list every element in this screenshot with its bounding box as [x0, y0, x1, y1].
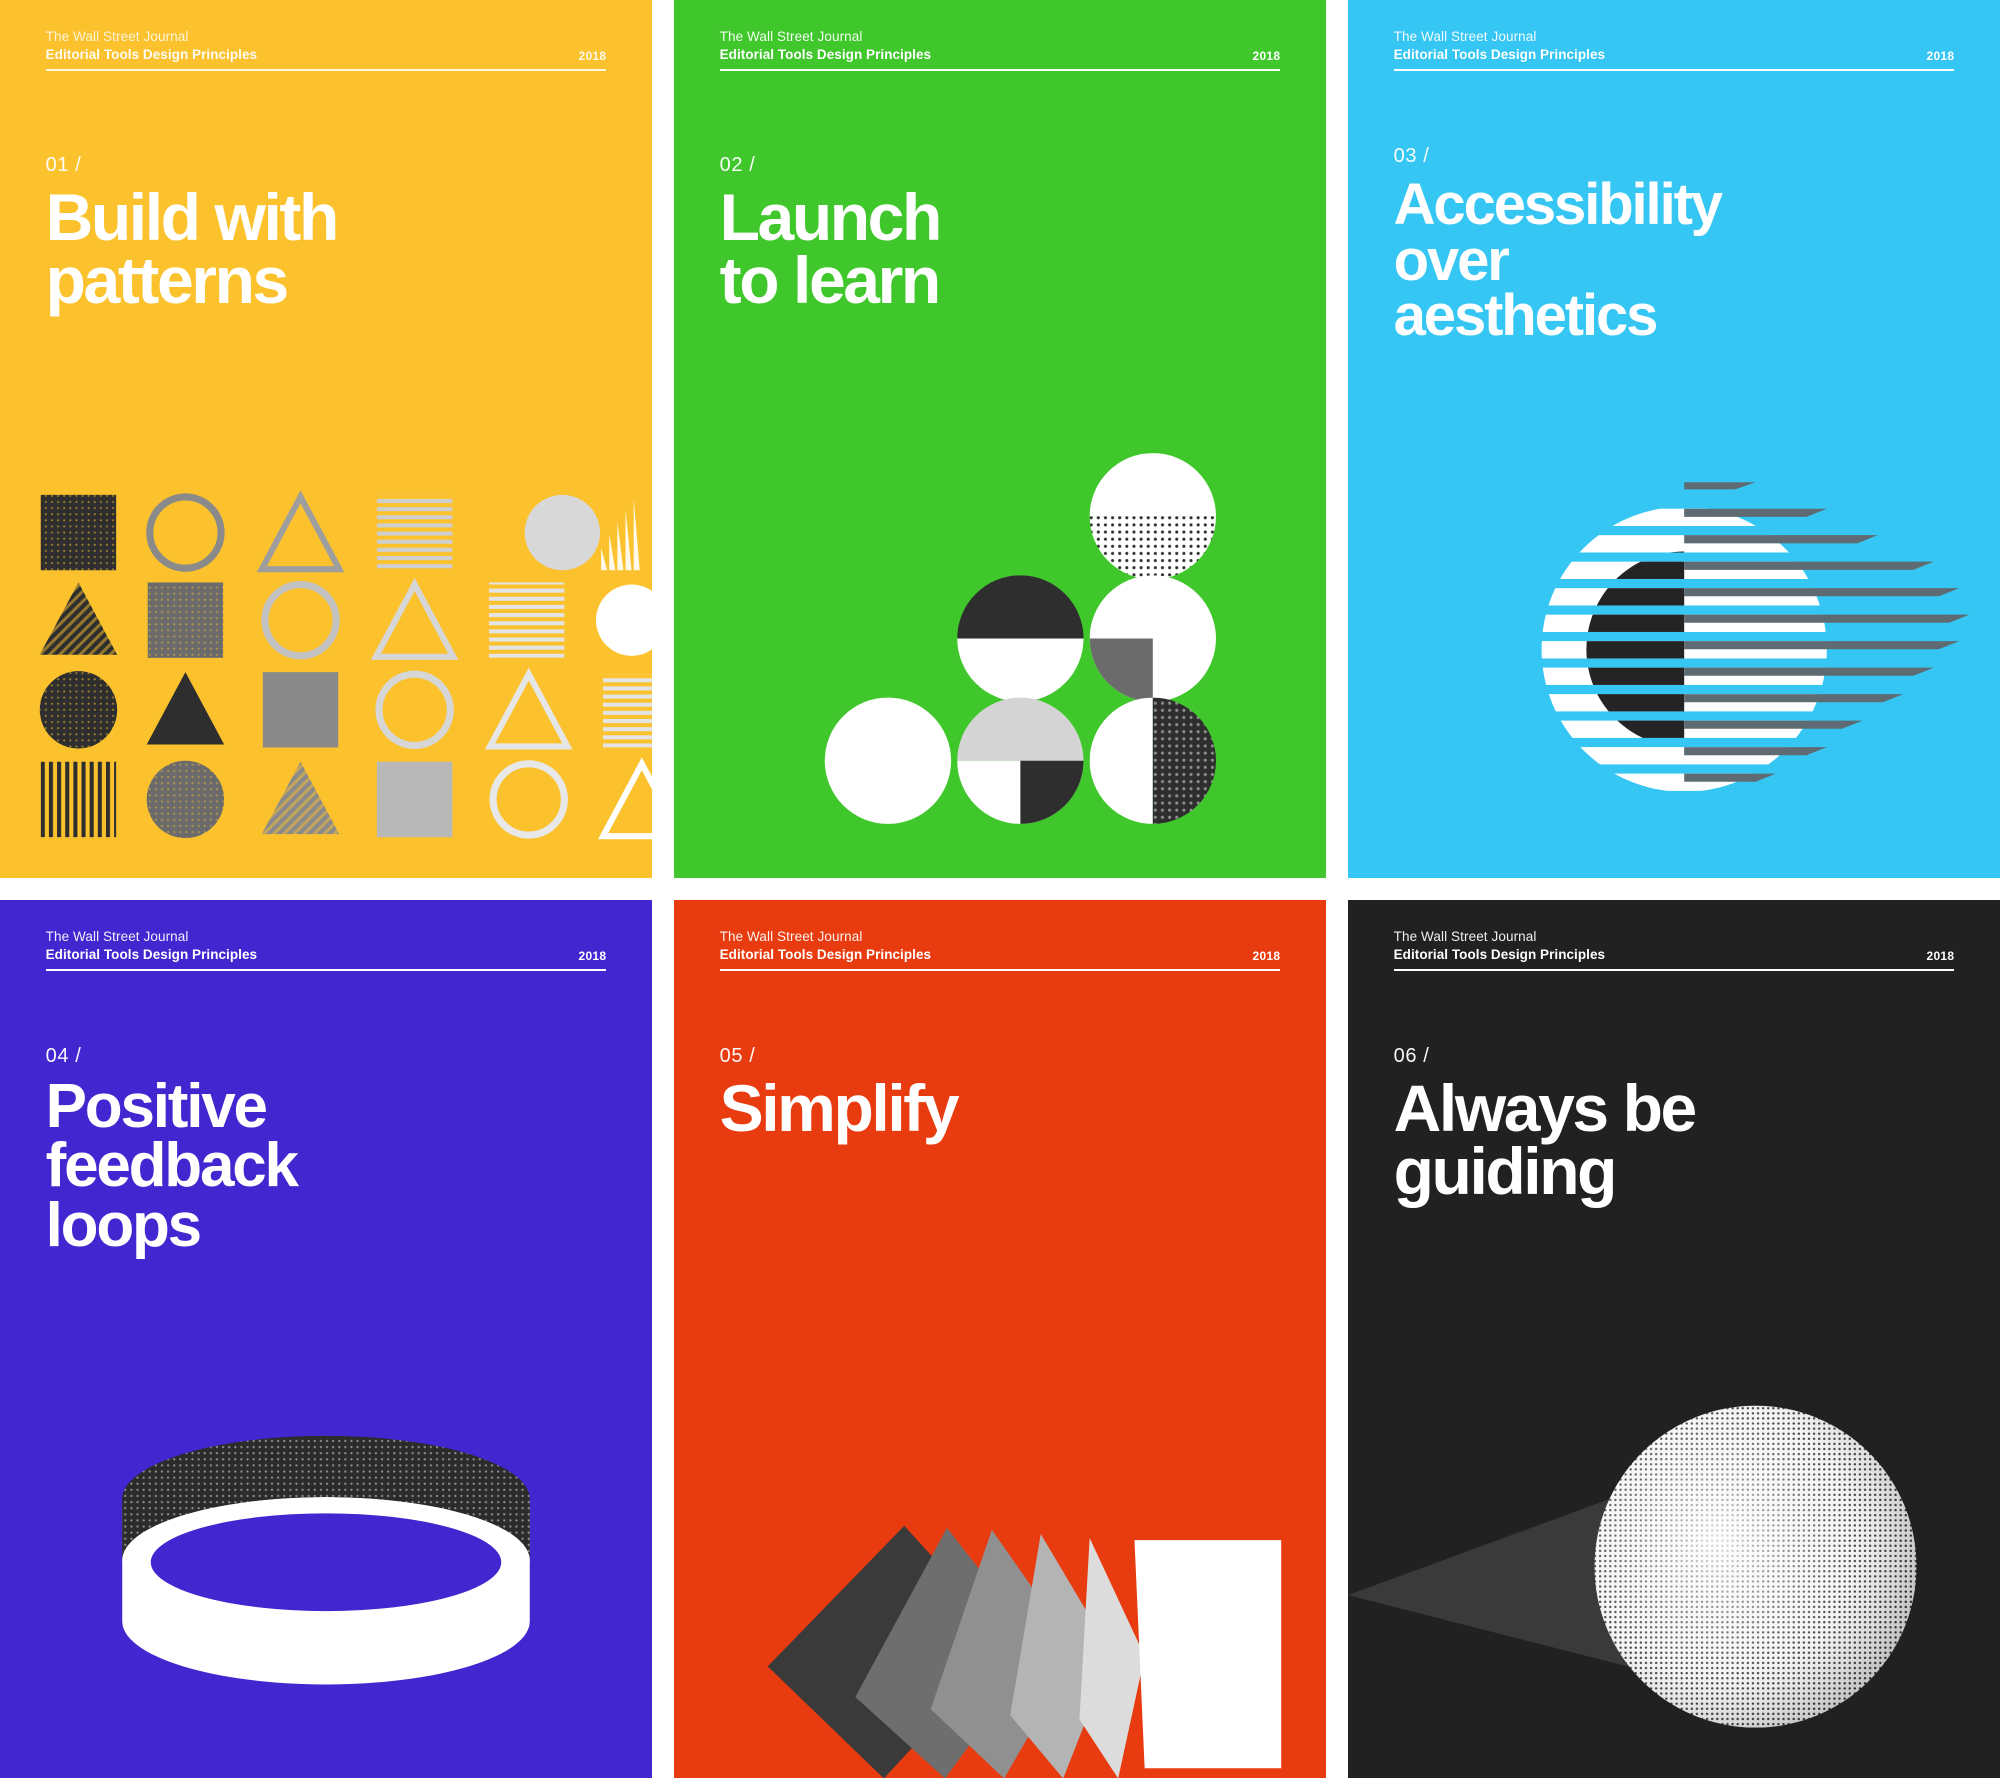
page-title: Simplify [720, 1077, 1287, 1140]
title-line: loops [46, 1196, 613, 1256]
series-name: Editorial Tools Design Principles [1394, 946, 1605, 964]
title-line: guiding [1394, 1140, 1961, 1203]
header-rule [1394, 969, 1955, 971]
title-line: over [1394, 233, 1961, 289]
title-block: 01 / Build with patterns [46, 154, 613, 313]
poster-header: The Wall Street Journal Editorial Tools … [46, 928, 607, 971]
page-title: Launch to learn [720, 186, 1287, 313]
page-title: Always be guiding [1394, 1077, 1961, 1204]
header-rule [1394, 69, 1955, 71]
series-name: Editorial Tools Design Principles [1394, 46, 1605, 64]
publication-name: The Wall Street Journal [720, 28, 931, 46]
header-rule [46, 969, 607, 971]
artwork-mobius-band [0, 1383, 652, 1778]
poster-header: The Wall Street Journal Editorial Tools … [46, 28, 607, 71]
title-line: feedback [46, 1136, 613, 1196]
publication-name: The Wall Street Journal [1394, 928, 1605, 946]
series-name: Editorial Tools Design Principles [46, 946, 257, 964]
year-label: 2018 [1252, 949, 1280, 964]
series-name: Editorial Tools Design Principles [720, 46, 931, 64]
artwork-fanned-cards [674, 1357, 1326, 1778]
title-line: Build with [46, 186, 613, 249]
publication-block: The Wall Street Journal Editorial Tools … [720, 28, 931, 64]
poster-grid: The Wall Street Journal Editorial Tools … [0, 0, 2000, 1778]
year-label: 2018 [1252, 49, 1280, 64]
title-line: Simplify [720, 1077, 1287, 1140]
poster-number: 04 / [46, 1045, 613, 1068]
poster-header: The Wall Street Journal Editorial Tools … [720, 928, 1281, 971]
poster-04-positive-feedback-loops[interactable]: The Wall Street Journal Editorial Tools … [0, 900, 652, 1778]
artwork-striped-globe [1348, 421, 2000, 878]
poster-header: The Wall Street Journal Editorial Tools … [1394, 28, 1955, 71]
title-line: Launch [720, 186, 1287, 249]
header-rule [46, 69, 607, 71]
title-block: 02 / Launch to learn [720, 154, 1287, 313]
title-block: 06 / Always be guiding [1394, 1045, 1961, 1204]
page-title: Accessibility over aesthetics [1394, 177, 1961, 344]
publication-block: The Wall Street Journal Editorial Tools … [1394, 28, 1605, 64]
year-label: 2018 [1926, 49, 1954, 64]
publication-name: The Wall Street Journal [46, 28, 257, 46]
artwork-halftone-sphere-beam [1348, 1339, 2000, 1778]
poster-02-launch-to-learn[interactable]: The Wall Street Journal Editorial Tools … [674, 0, 1326, 878]
publication-block: The Wall Street Journal Editorial Tools … [46, 28, 257, 64]
publication-block: The Wall Street Journal Editorial Tools … [1394, 928, 1605, 964]
series-name: Editorial Tools Design Principles [46, 46, 257, 64]
title-line: aesthetics [1394, 288, 1961, 344]
publication-block: The Wall Street Journal Editorial Tools … [720, 928, 931, 964]
title-block: 04 / Positive feedback loops [46, 1045, 613, 1256]
poster-number: 01 / [46, 154, 613, 177]
year-label: 2018 [578, 49, 606, 64]
series-name: Editorial Tools Design Principles [720, 946, 931, 964]
poster-number: 05 / [720, 1045, 1287, 1068]
poster-03-accessibility-over-aesthetics[interactable]: The Wall Street Journal Editorial Tools … [1348, 0, 2000, 878]
title-line: Accessibility [1394, 177, 1961, 233]
title-block: 03 / Accessibility over aesthetics [1394, 145, 1961, 344]
publication-block: The Wall Street Journal Editorial Tools … [46, 928, 257, 964]
poster-01-build-with-patterns[interactable]: The Wall Street Journal Editorial Tools … [0, 0, 652, 878]
title-line: patterns [46, 249, 613, 312]
poster-number: 06 / [1394, 1045, 1961, 1068]
page-title: Positive feedback loops [46, 1077, 613, 1256]
poster-header: The Wall Street Journal Editorial Tools … [720, 28, 1281, 71]
poster-06-always-be-guiding[interactable]: The Wall Street Journal Editorial Tools … [1348, 900, 2000, 1778]
year-label: 2018 [1926, 949, 1954, 964]
poster-number: 03 / [1394, 145, 1961, 168]
title-line: to learn [720, 249, 1287, 312]
publication-name: The Wall Street Journal [720, 928, 931, 946]
publication-name: The Wall Street Journal [1394, 28, 1605, 46]
poster-number: 02 / [720, 154, 1287, 177]
artwork-shape-pattern-grid [0, 395, 652, 878]
poster-05-simplify[interactable]: The Wall Street Journal Editorial Tools … [674, 900, 1326, 1778]
header-rule [720, 969, 1281, 971]
page-title: Build with patterns [46, 186, 613, 313]
header-rule [720, 69, 1281, 71]
title-line: Positive [46, 1077, 613, 1137]
artwork-segmented-circles [674, 395, 1326, 878]
publication-name: The Wall Street Journal [46, 928, 257, 946]
title-line: Always be [1394, 1077, 1961, 1140]
poster-header: The Wall Street Journal Editorial Tools … [1394, 928, 1955, 971]
title-block: 05 / Simplify [720, 1045, 1287, 1140]
year-label: 2018 [578, 949, 606, 964]
